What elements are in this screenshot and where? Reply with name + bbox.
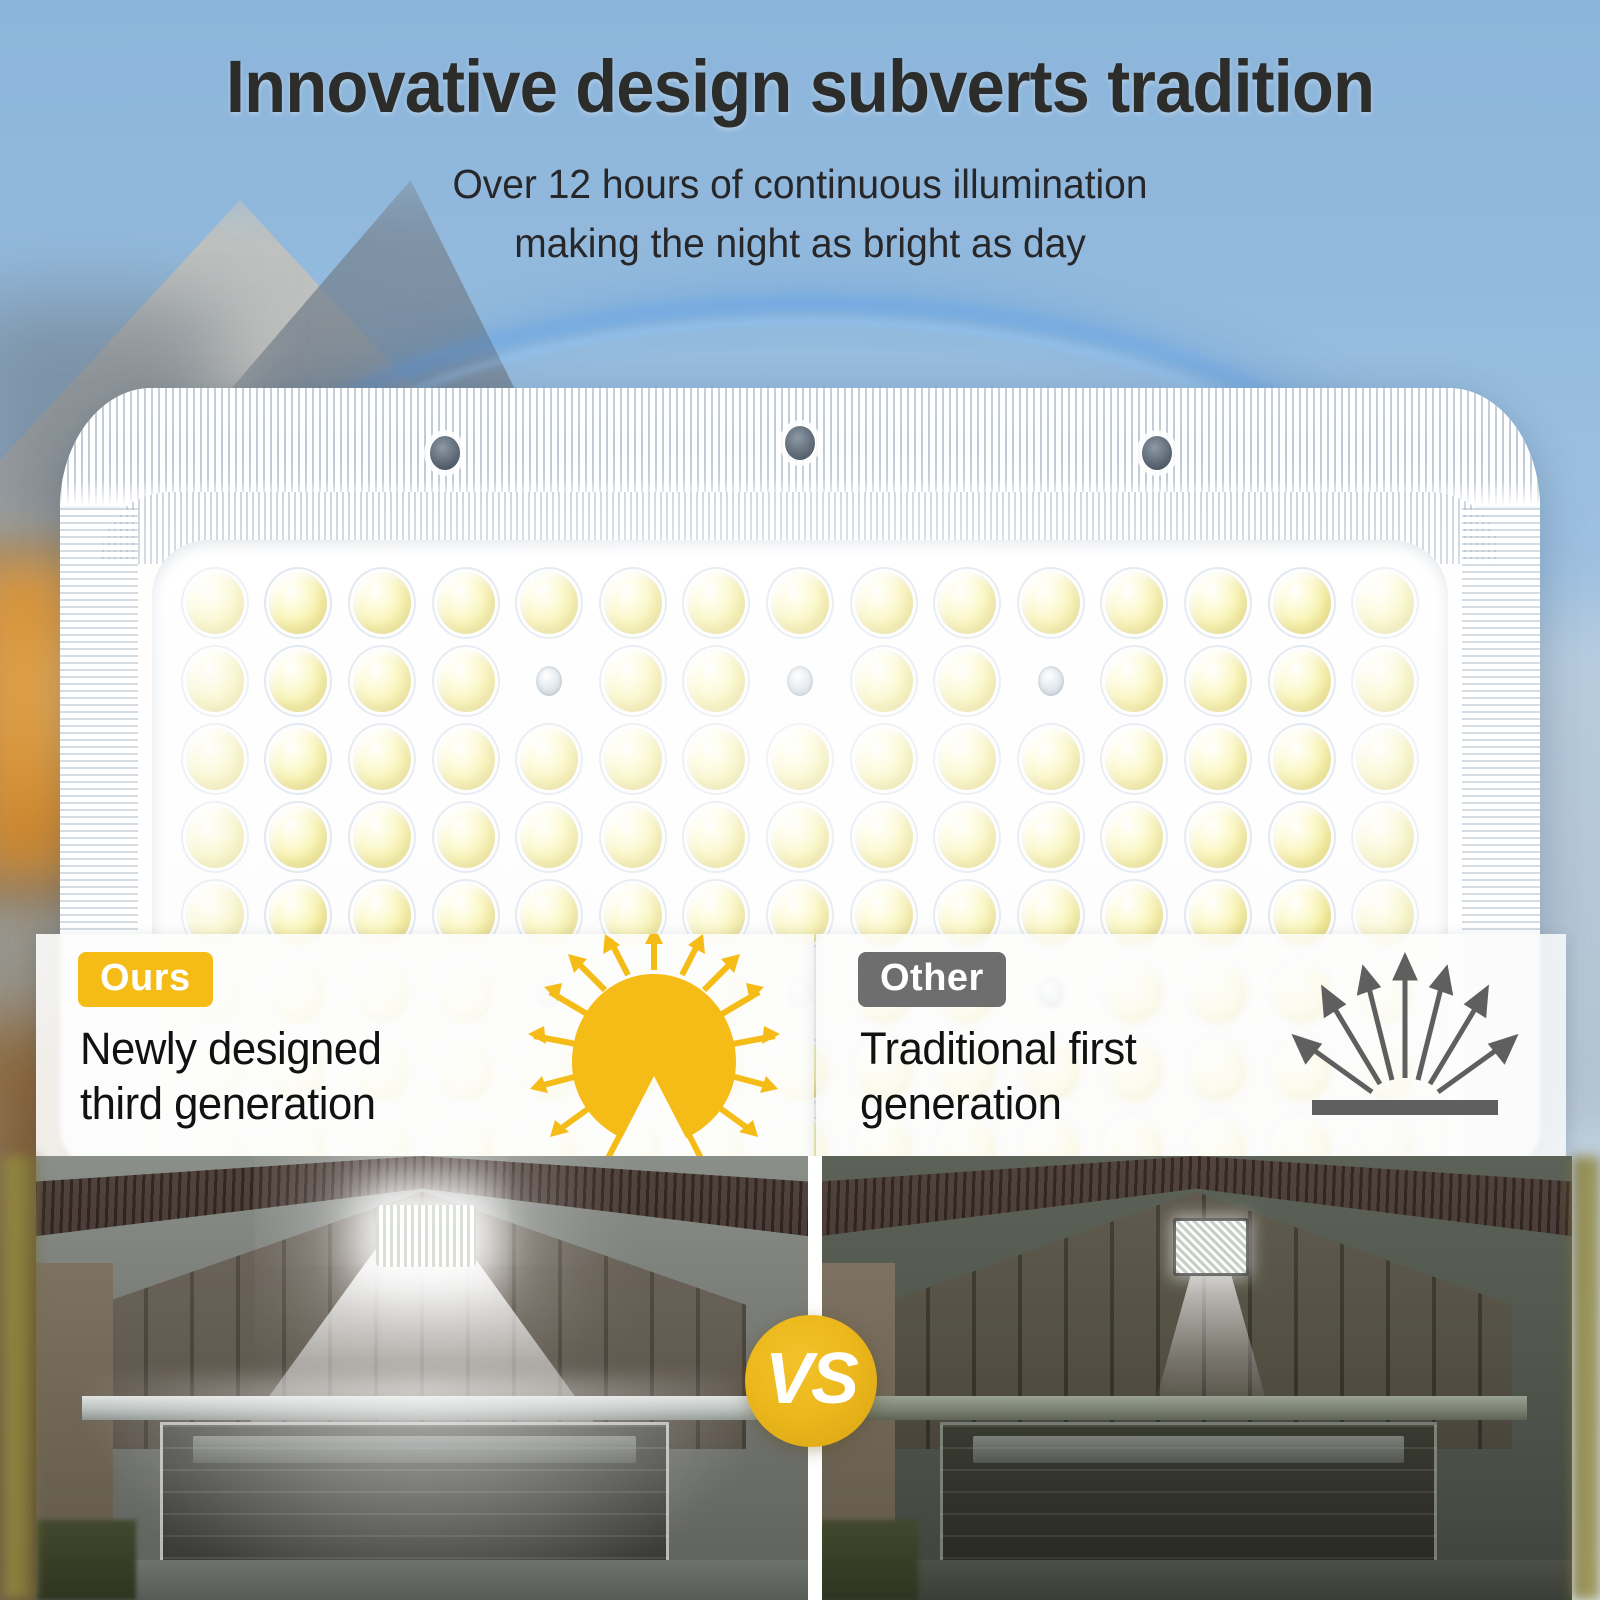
led-chip — [687, 650, 745, 712]
led-chip — [1022, 728, 1080, 790]
led-chip — [269, 806, 327, 868]
led-chip — [604, 728, 662, 790]
led-chip — [1356, 572, 1414, 634]
led-chip — [1105, 728, 1163, 790]
led-chip — [1105, 650, 1163, 712]
led-chip — [353, 806, 411, 868]
led-chip — [520, 728, 578, 790]
ours-description-line-2: third generation — [80, 1077, 381, 1132]
led-chip — [269, 572, 327, 634]
led-chip — [437, 806, 495, 868]
led-chip — [186, 650, 244, 712]
other-garage-door-window — [973, 1436, 1404, 1463]
led-chip — [771, 728, 829, 790]
led-chip — [938, 728, 996, 790]
led-chip — [855, 728, 913, 790]
other-lamp — [1173, 1218, 1248, 1276]
led-board-screw — [536, 666, 562, 696]
other-description-line-1: Traditional first — [860, 1022, 1136, 1077]
vs-badge: VS — [745, 1315, 877, 1447]
led-chip — [1189, 806, 1247, 868]
led-chip — [1105, 806, 1163, 868]
comparison-card-other: Other Traditional first generation — [816, 934, 1566, 1160]
sun-wide-beam-icon — [504, 934, 804, 1156]
led-chip — [1105, 572, 1163, 634]
led-chip — [1189, 572, 1247, 634]
ours-badge: Ours — [78, 952, 213, 1007]
led-chip — [938, 806, 996, 868]
led-chip — [855, 806, 913, 868]
led-chip — [1273, 572, 1331, 634]
led-chip — [186, 728, 244, 790]
led-chip — [186, 572, 244, 634]
led-chip — [687, 806, 745, 868]
led-chip — [520, 572, 578, 634]
led-chip — [604, 572, 662, 634]
led-chip — [1356, 650, 1414, 712]
led-chip — [437, 650, 495, 712]
comparison-row: Ours Newly designed third generation — [0, 934, 1600, 1160]
led-board-screw — [787, 666, 813, 696]
led-chip — [855, 572, 913, 634]
comparison-card-ours: Ours Newly designed third generation — [36, 934, 814, 1160]
narrow-beam-arrows-icon — [1280, 952, 1530, 1122]
subheadline: Over 12 hours of continuous illumination… — [40, 155, 1560, 274]
led-chip — [604, 806, 662, 868]
other-badge: Other — [858, 952, 1006, 1007]
other-photo-fascia — [865, 1396, 1527, 1420]
fixture-bolt-right — [1142, 436, 1172, 470]
led-chip — [1356, 728, 1414, 790]
led-chip — [1022, 572, 1080, 634]
other-description: Traditional first generation — [860, 1022, 1136, 1132]
fixture-bolt-left — [430, 436, 460, 470]
led-chip — [1022, 806, 1080, 868]
led-chip — [1273, 806, 1331, 868]
other-description-line-2: generation — [860, 1077, 1136, 1132]
led-chip — [353, 650, 411, 712]
led-chip — [437, 728, 495, 790]
ours-description: Newly designed third generation — [80, 1022, 381, 1132]
led-chip — [687, 572, 745, 634]
led-chip — [1273, 650, 1331, 712]
fixture-bolt-center — [785, 426, 815, 460]
led-chip — [1189, 650, 1247, 712]
ours-description-line-1: Newly designed — [80, 1022, 381, 1077]
led-chip — [1189, 728, 1247, 790]
product-marketing-image: Innovative design subverts tradition Ove… — [0, 0, 1600, 1600]
vs-label: VS — [765, 1343, 857, 1415]
led-chip — [1356, 806, 1414, 868]
headline-title: Innovative design subverts tradition — [56, 44, 1544, 129]
photo-left-edge — [0, 1156, 36, 1600]
led-chip — [353, 572, 411, 634]
led-chip — [353, 728, 411, 790]
led-chip — [186, 806, 244, 868]
led-chip — [938, 650, 996, 712]
ours-lamp — [376, 1205, 476, 1267]
led-chip — [771, 806, 829, 868]
other-photo-shrubs — [820, 1520, 918, 1600]
led-chip — [1273, 728, 1331, 790]
led-chip — [269, 650, 327, 712]
led-chip — [604, 650, 662, 712]
subheadline-line-1: Over 12 hours of continuous illumination — [40, 155, 1560, 214]
led-chip — [687, 728, 745, 790]
led-chip — [520, 806, 578, 868]
photo-ours-garage — [36, 1156, 808, 1600]
led-board-screw — [1038, 666, 1064, 696]
led-chip — [938, 572, 996, 634]
photo-other-garage — [820, 1156, 1572, 1600]
led-chip — [771, 572, 829, 634]
ours-photo-driveway — [36, 1560, 808, 1600]
led-chip — [855, 650, 913, 712]
subheadline-line-2: making the night as bright as day — [40, 214, 1560, 273]
photo-right-edge — [1572, 1156, 1600, 1600]
led-chip — [437, 572, 495, 634]
ours-photo-shrubs — [36, 1520, 136, 1600]
led-chip — [269, 728, 327, 790]
other-photo-driveway — [820, 1560, 1572, 1600]
